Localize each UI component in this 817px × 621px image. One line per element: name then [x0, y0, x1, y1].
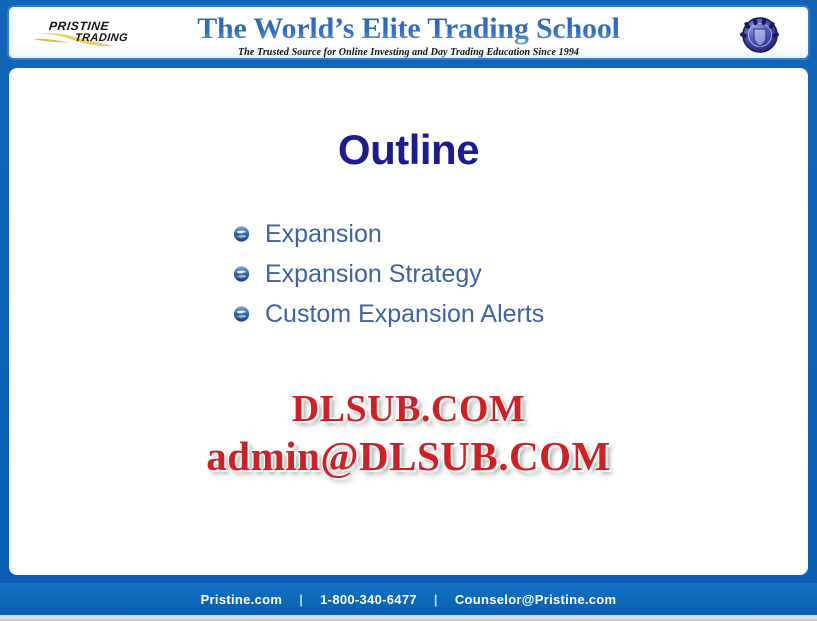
footer-phone[interactable]: 1-800-340-6477	[320, 592, 417, 607]
header-title: The World’s Elite Trading School	[9, 13, 808, 45]
footer-website[interactable]: Pristine.com	[201, 592, 283, 607]
header-inner: PRISTINE TRADING The World’s Elite Tradi…	[9, 7, 808, 58]
page-title: Outline	[9, 126, 808, 174]
swirl-bullet-icon	[233, 226, 250, 243]
header-subtitle: The Trusted Source for Online Investing …	[9, 47, 808, 58]
footer-separator-1: |	[282, 592, 320, 607]
shield-seal-icon	[736, 10, 784, 58]
list-item: Expansion	[231, 214, 544, 254]
list-item-label: Expansion	[265, 220, 382, 248]
swirl-bullet-icon	[233, 306, 250, 323]
footer-separator-2: |	[417, 592, 455, 607]
list-item-label: Custom Expansion Alerts	[265, 300, 544, 328]
slide-content: Outline Expansion	[9, 68, 808, 575]
presentation-slide: PRISTINE TRADING The World’s Elite Tradi…	[0, 0, 817, 621]
slide-footer: Pristine.com | 1-800-340-6477 | Counselo…	[0, 583, 817, 615]
list-item-label: Expansion Strategy	[265, 260, 482, 288]
bottom-edge-strip	[0, 615, 817, 621]
outline-bullet-list: Expansion Expansion Strategy Custom Expa…	[231, 214, 544, 334]
footer-contact-row: Pristine.com | 1-800-340-6477 | Counselo…	[201, 592, 617, 607]
slide-header: PRISTINE TRADING The World’s Elite Tradi…	[7, 5, 810, 60]
watermark-line-2: admin@DLSUB.COM	[9, 433, 808, 480]
watermark: DLSUB.COM admin@DLSUB.COM	[9, 386, 808, 480]
watermark-line-1: DLSUB.COM	[9, 386, 808, 433]
list-item: Expansion Strategy	[231, 254, 544, 294]
list-item: Custom Expansion Alerts	[231, 294, 544, 334]
footer-email[interactable]: Counselor@Pristine.com	[455, 592, 617, 607]
swirl-bullet-icon	[233, 266, 250, 283]
